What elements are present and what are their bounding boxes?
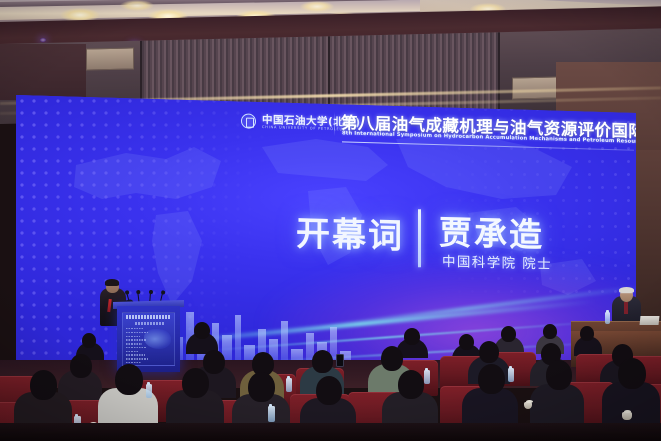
audience-area <box>0 330 661 441</box>
audience-head <box>543 324 557 339</box>
left-side-wall <box>0 44 86 100</box>
tea-cup <box>622 412 632 420</box>
header-divider <box>334 112 335 136</box>
speaker-affiliation: 中国科学院 院士 <box>442 250 552 273</box>
water-bottle <box>508 368 514 382</box>
water-bottle <box>286 378 292 392</box>
audience-head <box>248 372 275 402</box>
raised-smartphone <box>336 354 344 367</box>
audience-head <box>203 350 225 374</box>
audience-head <box>82 333 96 348</box>
water-bottle <box>424 370 430 384</box>
audience-head <box>459 334 474 350</box>
vertical-divider <box>418 209 421 267</box>
audience-head <box>546 360 572 390</box>
ceiling-downlight <box>120 0 154 11</box>
audience-head <box>580 326 594 341</box>
nameplate <box>640 316 660 325</box>
podium-board-title <box>126 315 171 319</box>
audience-head <box>479 341 499 363</box>
audience-head <box>316 376 342 405</box>
water-bottle <box>146 384 152 398</box>
water-bottle <box>605 312 610 324</box>
audience-head <box>381 346 403 371</box>
audience-head <box>501 326 516 342</box>
accent-spotlight <box>40 38 46 42</box>
screen-center-text: 开幕词 贾承造 中国科学院 院士 <box>296 200 606 293</box>
audience-head <box>398 370 424 399</box>
wall-speaker-box <box>86 47 134 70</box>
audience-head <box>70 354 92 378</box>
floor <box>0 423 661 441</box>
audience-head <box>312 350 333 373</box>
led-stage-screen: 中国石油大学(北京) CHINA UNIVERSITY OF PETROLEUM… <box>16 95 636 367</box>
audience-head <box>478 364 505 394</box>
section-label: 开幕词 <box>296 206 404 258</box>
conference-hall-photo: 中国石油大学(北京) CHINA UNIVERSITY OF PETROLEUM… <box>0 0 661 441</box>
podium-board-subtitle <box>135 322 165 325</box>
water-bottle <box>268 406 275 422</box>
speaker-name: 贾承造 <box>439 206 544 257</box>
audience-head <box>618 358 646 389</box>
session-chair-hair <box>619 287 634 293</box>
china-university-of-petroleum-emblem-icon <box>241 113 256 128</box>
audience-head <box>194 322 210 339</box>
audience-head <box>182 368 209 398</box>
ceiling-downlight <box>300 1 334 12</box>
audience-head <box>30 370 57 400</box>
audience-head <box>404 328 420 345</box>
audience-head <box>115 364 143 395</box>
session-chair-tie <box>624 302 628 314</box>
standing-speaker-hair <box>105 279 119 286</box>
